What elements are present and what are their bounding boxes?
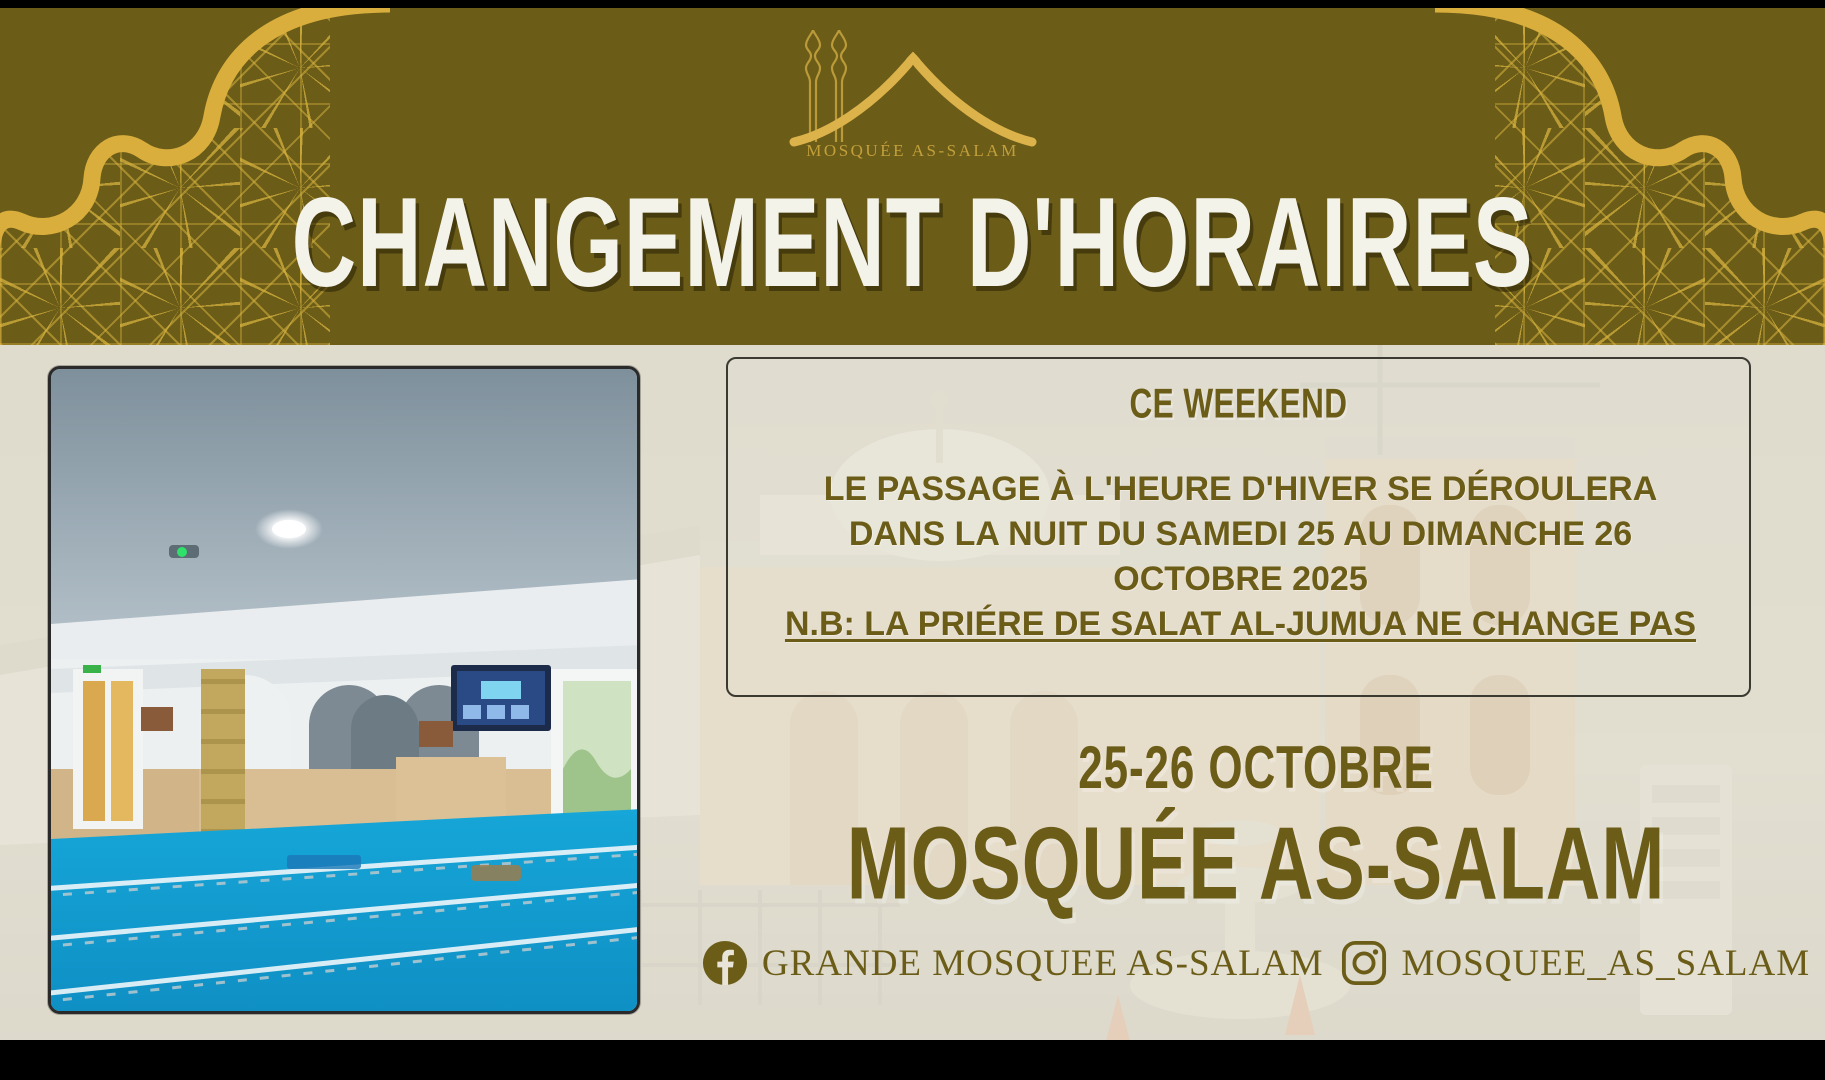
poster-header: MOSQUÉE AS-SALAM CHANGEMENT D'HORAIRES: [0, 8, 1825, 345]
mosque-interior-photo: [48, 366, 640, 1014]
page-title: CHANGEMENT D'HORAIRES: [128, 186, 1698, 303]
venue-name: MOSQUÉE AS-SALAM: [790, 805, 1723, 924]
announcement-kicker: CE WEEKEND: [779, 381, 1698, 428]
date-range: 25-26 OCTOBRE: [790, 733, 1723, 803]
facebook-handle: GRANDE MOSQUEE AS-SALAM: [762, 942, 1324, 985]
announcement-paragraph: LE PASSAGE À L'HEURE D'HIVER SE DÉROULER…: [752, 467, 1729, 647]
announcement-column: CE WEEKEND LE PASSAGE À L'HEURE D'HIVER …: [726, 345, 1786, 1040]
social-row: GRANDE MOSQUEE AS-SALAM MOSQUEE_AS_SALAM: [726, 940, 1786, 986]
letterbox-top: [0, 0, 1825, 8]
brand-logo: MOSQUÉE AS-SALAM: [788, 30, 1038, 165]
facebook-icon[interactable]: [702, 940, 748, 986]
poster-body: CE WEEKEND LE PASSAGE À L'HEURE D'HIVER …: [0, 345, 1825, 1040]
announcement-line-2: DANS LA NUIT DU SAMEDI 25 AU DIMANCHE 26: [752, 512, 1729, 557]
mosque-dome-minaret-icon: [788, 30, 1038, 148]
instagram-icon[interactable]: [1341, 940, 1387, 986]
announcement-box: CE WEEKEND LE PASSAGE À L'HEURE D'HIVER …: [726, 357, 1751, 697]
announcement-line-3: OCTOBRE 2025: [752, 557, 1729, 602]
instagram-handle: MOSQUEE_AS_SALAM: [1401, 942, 1810, 985]
brand-logo-text: MOSQUÉE AS-SALAM: [788, 141, 1038, 161]
announcement-line-1: LE PASSAGE À L'HEURE D'HIVER SE DÉROULER…: [752, 467, 1729, 512]
letterbox-bottom: [0, 1040, 1825, 1080]
instagram-social-item[interactable]: MOSQUEE_AS_SALAM: [1341, 940, 1810, 986]
facebook-social-item[interactable]: GRANDE MOSQUEE AS-SALAM: [702, 940, 1324, 986]
announcement-note: N.B: LA PRIÉRE DE SALAT AL-JUMUA NE CHAN…: [752, 602, 1729, 647]
poster-stage: MOSQUÉE AS-SALAM CHANGEMENT D'HORAIRES: [0, 0, 1825, 1080]
poster-canvas: MOSQUÉE AS-SALAM CHANGEMENT D'HORAIRES: [0, 8, 1825, 1040]
